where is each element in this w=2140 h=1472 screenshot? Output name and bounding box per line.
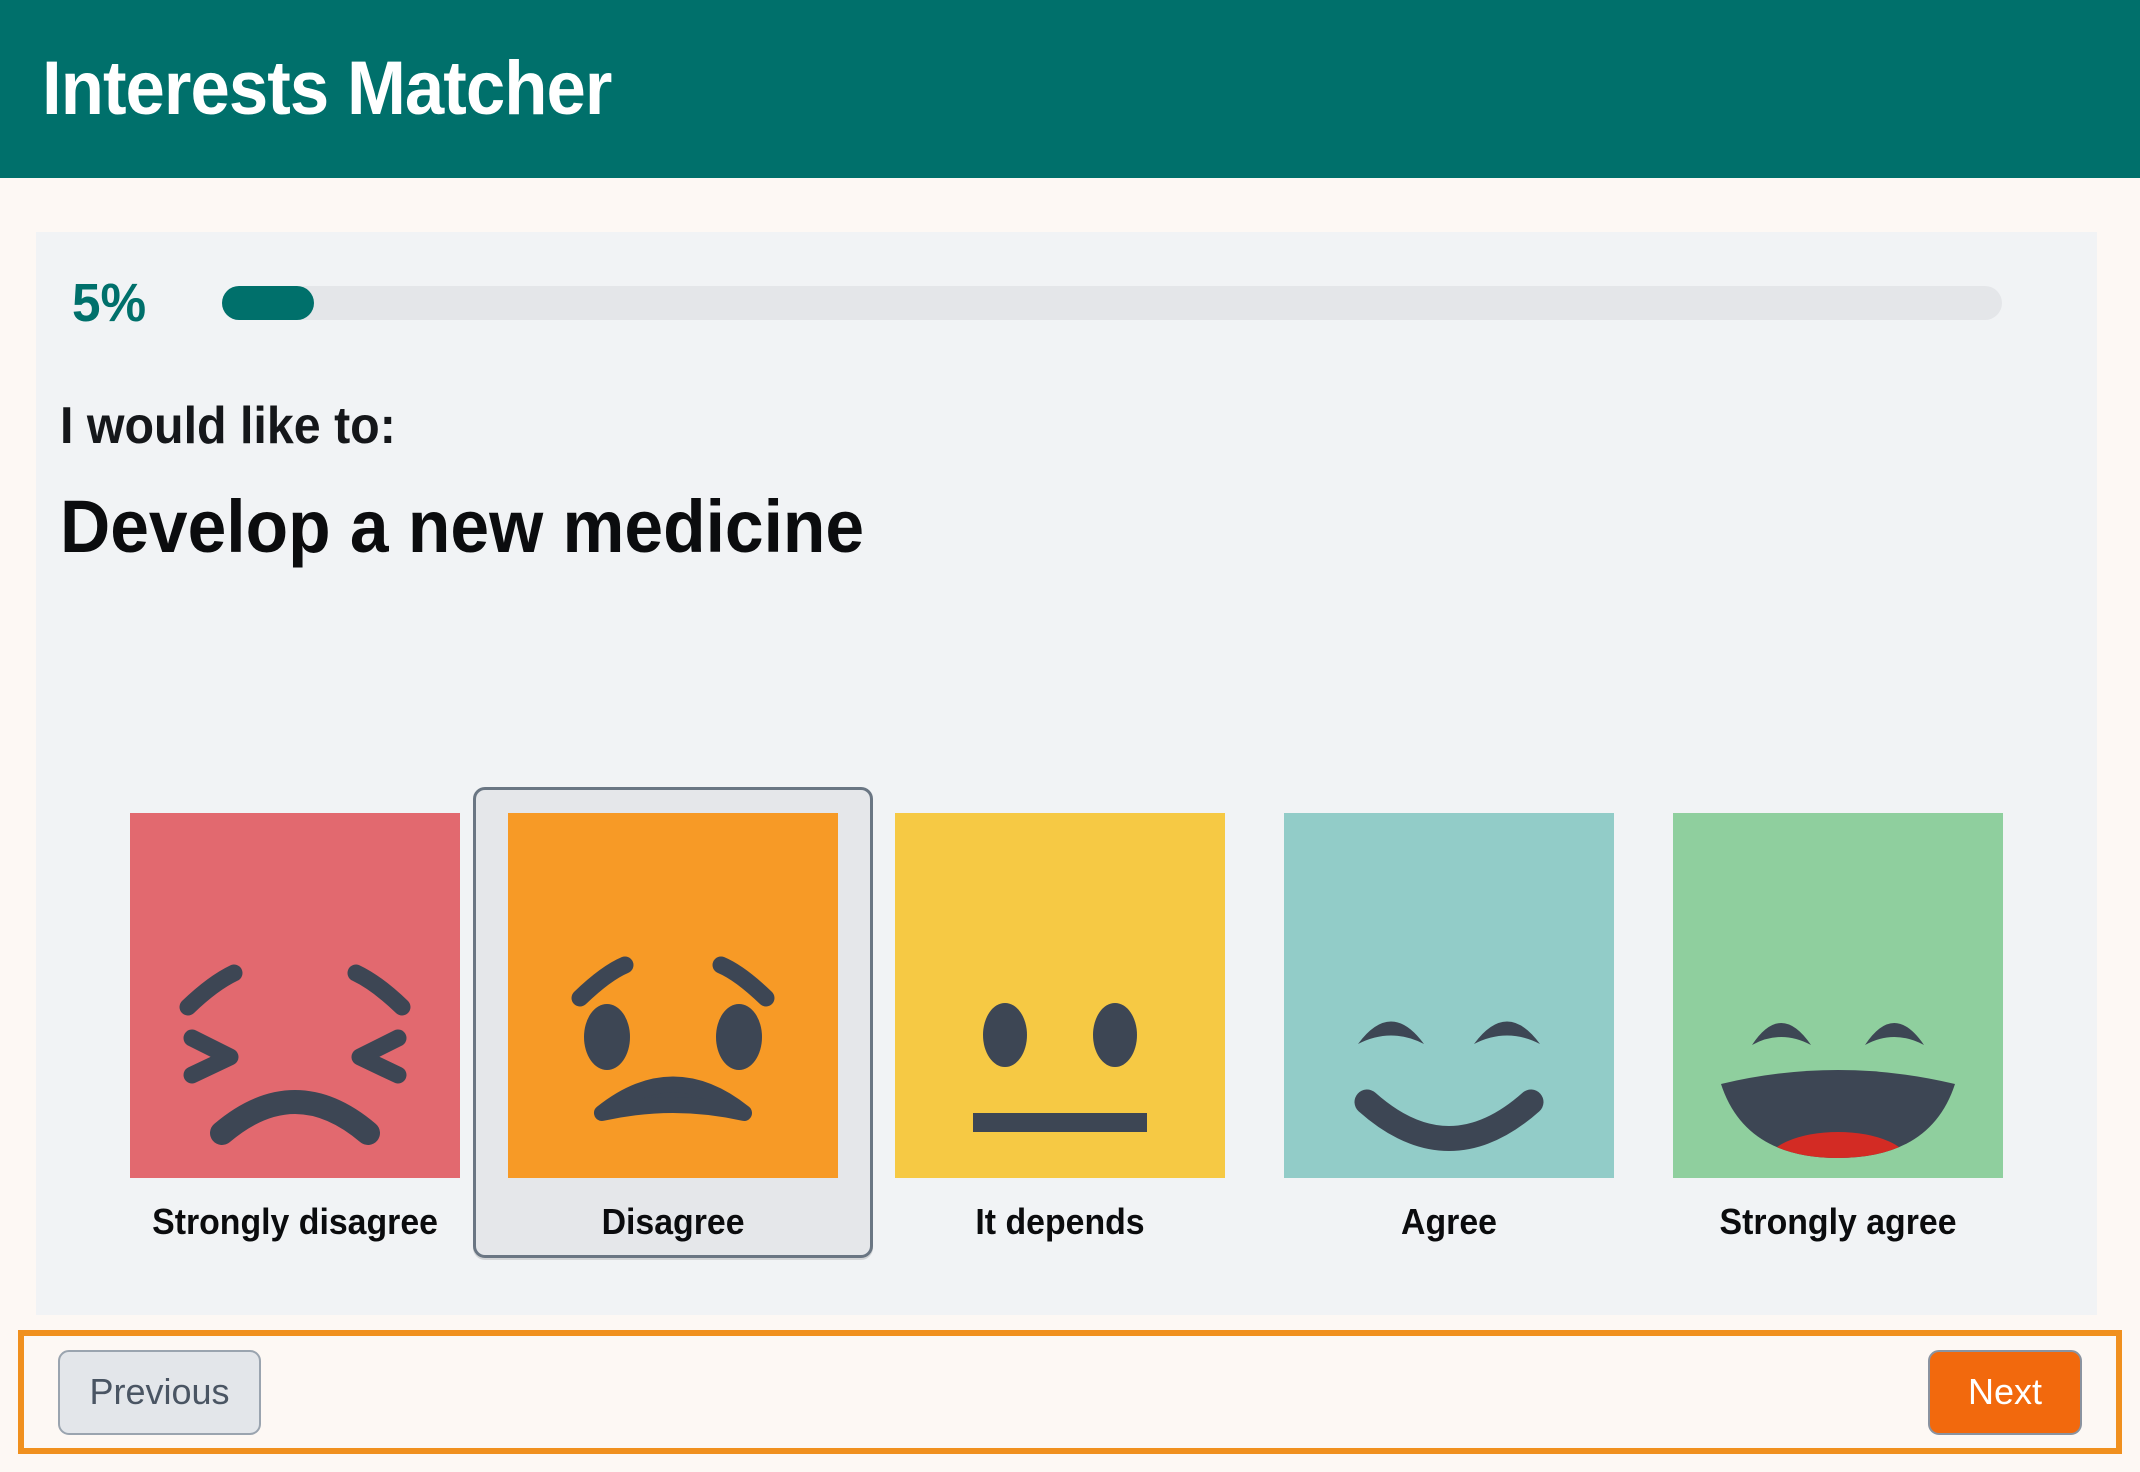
question-panel: 5% I would like to: Develop a new medici…	[36, 232, 2097, 1315]
sad-face-icon	[508, 813, 838, 1178]
answer-option-it-depends[interactable]: It depends	[860, 787, 1260, 1258]
very-sad-face-icon	[130, 813, 460, 1178]
happy-face-icon	[1284, 813, 1614, 1178]
app-title: Interests Matcher	[42, 51, 611, 127]
answer-label: Disagree	[602, 1204, 745, 1240]
progress-bar-track	[222, 286, 2002, 320]
answer-option-disagree[interactable]: Disagree	[473, 787, 873, 1258]
next-button[interactable]: Next	[1928, 1350, 2082, 1435]
progress-row: 5%	[72, 276, 2067, 330]
question-prompt: I would like to:	[60, 400, 396, 452]
question-text: Develop a new medicine	[60, 490, 864, 564]
answer-label: Strongly disagree	[152, 1204, 438, 1240]
neutral-face-icon	[895, 813, 1225, 1178]
answer-label: Strongly agree	[1720, 1204, 1957, 1240]
answer-label: Agree	[1401, 1204, 1497, 1240]
very-happy-face-icon	[1673, 813, 2003, 1178]
app-header: Interests Matcher	[0, 0, 2140, 178]
answer-option-strongly-disagree[interactable]: Strongly disagree	[95, 787, 495, 1258]
progress-percent-label: 5%	[72, 276, 215, 330]
answer-options: Strongly disagree Disagree	[36, 787, 2097, 1267]
previous-button[interactable]: Previous	[58, 1350, 261, 1435]
navigation-footer: Previous Next	[18, 1330, 2122, 1454]
answer-label: It depends	[975, 1204, 1144, 1240]
answer-option-strongly-agree[interactable]: Strongly agree	[1638, 787, 2038, 1258]
progress-bar-fill	[222, 286, 314, 320]
answer-option-agree[interactable]: Agree	[1249, 787, 1649, 1258]
